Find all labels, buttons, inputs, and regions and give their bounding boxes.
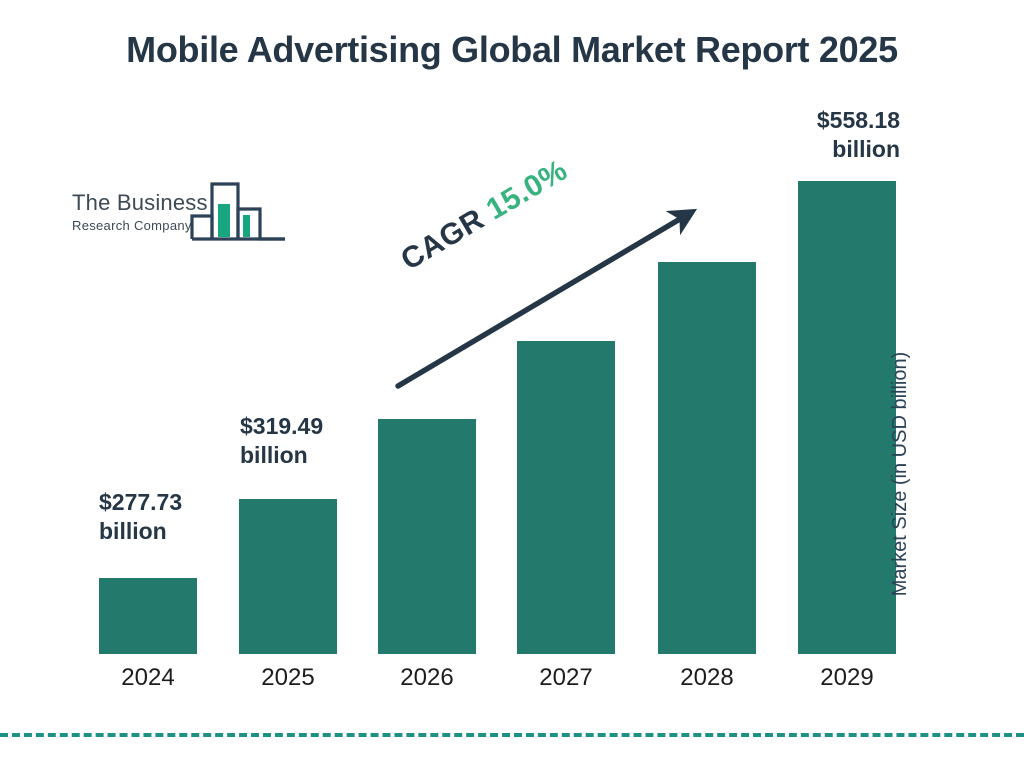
bar-2024[interactable] <box>99 578 197 654</box>
x-tick-2026: 2026 <box>378 666 476 690</box>
bar-2026[interactable] <box>378 419 476 654</box>
bar-value-label-2025: $319.49 billion <box>240 412 360 471</box>
bar-value-amount-2024: $277.73 <box>99 488 219 517</box>
bar-2025[interactable] <box>239 499 337 654</box>
x-tick-2024: 2024 <box>99 666 197 690</box>
x-tick-2028: 2028 <box>658 666 756 690</box>
bar-value-amount-2029: $558.18 <box>772 106 900 135</box>
x-tick-2025: 2025 <box>239 666 337 690</box>
y-axis-title: Market Size (in USD billion) <box>889 324 912 624</box>
x-tick-2029: 2029 <box>798 666 896 690</box>
bar-value-unit-2025: billion <box>240 441 360 470</box>
bottom-divider <box>0 733 1024 737</box>
bar-2029[interactable] <box>798 181 896 654</box>
growth-arrow-icon <box>380 190 720 405</box>
bar-value-label-2029: $558.18 billion <box>772 106 900 165</box>
bar-value-unit-2029: billion <box>772 135 900 164</box>
bar-value-unit-2024: billion <box>99 517 219 546</box>
bar-value-amount-2025: $319.49 <box>240 412 360 441</box>
x-tick-2027: 2027 <box>517 666 615 690</box>
bar-value-label-2024: $277.73 billion <box>99 488 219 547</box>
chart-container: Mobile Advertising Global Market Report … <box>0 0 1024 768</box>
